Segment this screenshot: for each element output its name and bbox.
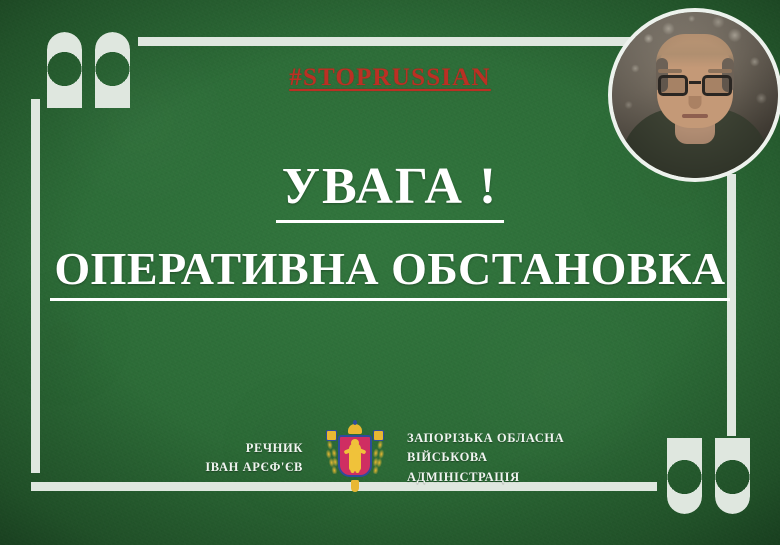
- coa-shield: [338, 435, 372, 477]
- spokesman-name: ІВАН АРЄФ'ЄВ: [183, 458, 303, 477]
- spokesman-block: РЕЧНИК ІВАН АРЄФ'ЄВ: [183, 439, 303, 478]
- frame-line-top: [138, 37, 698, 46]
- subheadline-container: ОПЕРАТИВНА ОБСТАНОВКА: [0, 245, 780, 301]
- organization-line-1: ЗАПОРІЗЬКА ОБЛАСНА: [407, 429, 597, 448]
- portrait-photo: [612, 12, 778, 178]
- organization-line-2: ВІЙСЬКОВА АДМІНІСТРАЦІЯ: [407, 448, 597, 487]
- poster-root: #STOPRUSSIAN УВАГА ! ОПЕРАТИВНА ОБСТАНОВ…: [0, 0, 780, 545]
- footer: РЕЧНИК ІВАН АРЄФ'ЄВ ЗАПОРІЗЬКА ОБЛАСНА В…: [0, 424, 780, 492]
- coa-crown: [348, 424, 362, 434]
- portrait-vignette: [612, 12, 778, 178]
- coa-badge-right: [373, 430, 384, 441]
- coa-badge-left: [326, 430, 337, 441]
- page-subtitle: ОПЕРАТИВНА ОБСТАНОВКА: [50, 245, 729, 301]
- avatar: [608, 8, 780, 182]
- coat-of-arms-icon: [325, 424, 385, 492]
- spokesman-role: РЕЧНИК: [183, 439, 303, 458]
- coa-base: [351, 480, 359, 492]
- page-title: УВАГА !: [276, 160, 504, 223]
- organization-block: ЗАПОРІЗЬКА ОБЛАСНА ВІЙСЬКОВА АДМІНІСТРАЦ…: [407, 429, 597, 487]
